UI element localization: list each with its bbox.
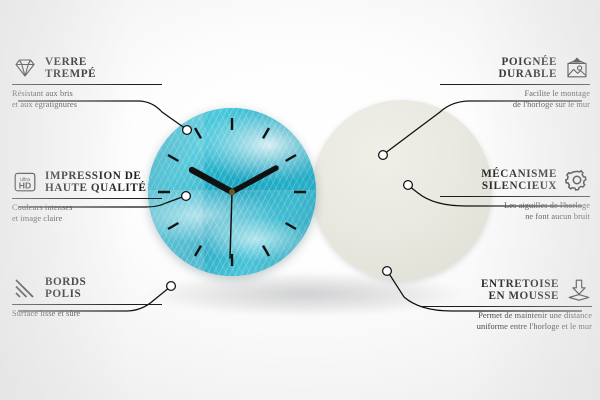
callout-title-line1: BORDS [45,276,86,288]
callout-verre-trempe: VERRE TREMPÉ Résistant aux bris et aux é… [12,56,162,110]
callout-bords-polis: BORDS POLIS Surface lisse et sûre [12,276,162,320]
gear-icon [564,168,590,192]
callout-poignee-durable: POIGNÉE DURABLE Facilite le montage de l… [440,56,590,110]
callout-subtitle-line1: Surface lisse et sûre [12,309,162,319]
hour-hand [192,170,232,192]
infographic-canvas: VERRE TREMPÉ Résistant aux bris et aux é… [0,0,600,400]
callout-subtitle-line1: Les aiguilles de l'horloge [440,201,590,211]
callout-header: VERRE TREMPÉ [12,56,162,81]
callout-header: MÉCANISME SILENCIEUX [440,168,590,193]
callout-title-line2: SILENCIEUX [481,180,557,192]
clock-hands [148,108,316,276]
callout-subtitle-line1: Permet de maintenir une distance [420,311,592,321]
callout-divider [12,84,162,85]
hanging-picture-icon [564,56,590,80]
callout-subtitle-line2: uniforme entre l'horloge et le mur [420,322,592,332]
callout-divider [420,306,592,307]
clock-front-face [148,108,316,276]
callout-header: ENTRETOISE EN MOUSSE [420,278,592,303]
callout-title-line2: POLIS [45,288,86,300]
callout-subtitle-line1: Résistant aux bris [12,89,162,99]
minute-hand [232,168,276,192]
callout-header: POIGNÉE DURABLE [440,56,590,81]
callout-subtitle-line2: de l'horloge sur le mur [440,100,590,110]
callout-divider [440,196,590,197]
ultra-hd-badge-icon: ultra HD [12,170,38,194]
callout-header: BORDS POLIS [12,276,162,301]
callout-title-line1: ENTRETOISE [481,278,559,290]
callout-title-line2: DURABLE [498,68,557,80]
callout-title-line1: MÉCANISME [481,168,557,180]
callout-title-line2: HAUTE QUALITÉ [45,182,146,194]
callout-impression-haute-qualite: ultra HD IMPRESSION DE HAUTE QUALITÉ Cou… [12,170,162,224]
callout-subtitle-line1: Facilite le montage [440,89,590,99]
callout-divider [12,198,162,199]
callout-divider [12,304,162,305]
second-hand [230,192,232,258]
callout-subtitle-line1: Couleurs intenses [12,203,162,213]
callout-mecanisme-silencieux: MÉCANISME SILENCIEUX Les aiguilles de l'… [440,168,590,222]
callout-entretoise-en-mousse: ENTRETOISE EN MOUSSE Permet de maintenir… [420,278,592,332]
callout-title-line2: EN MOUSSE [481,290,559,302]
callout-subtitle-line2: et image claire [12,214,162,224]
callout-title-line2: TREMPÉ [45,68,96,80]
polished-edges-icon [12,276,38,300]
callout-subtitle-line2: et aux égratignures [12,100,162,110]
callout-title-line1: VERRE [45,56,96,68]
callout-divider [440,84,590,85]
foam-spacer-arrow-icon [566,278,592,302]
diamond-icon [12,56,38,80]
callout-title-line1: POIGNÉE [498,56,557,68]
badge-bottom-text: HD [19,181,31,191]
callout-subtitle-line2: ne font aucun bruit [440,212,590,222]
callout-header: ultra HD IMPRESSION DE HAUTE QUALITÉ [12,170,162,195]
clock-center-cap [229,189,235,195]
callout-title-line1: IMPRESSION DE [45,170,146,182]
